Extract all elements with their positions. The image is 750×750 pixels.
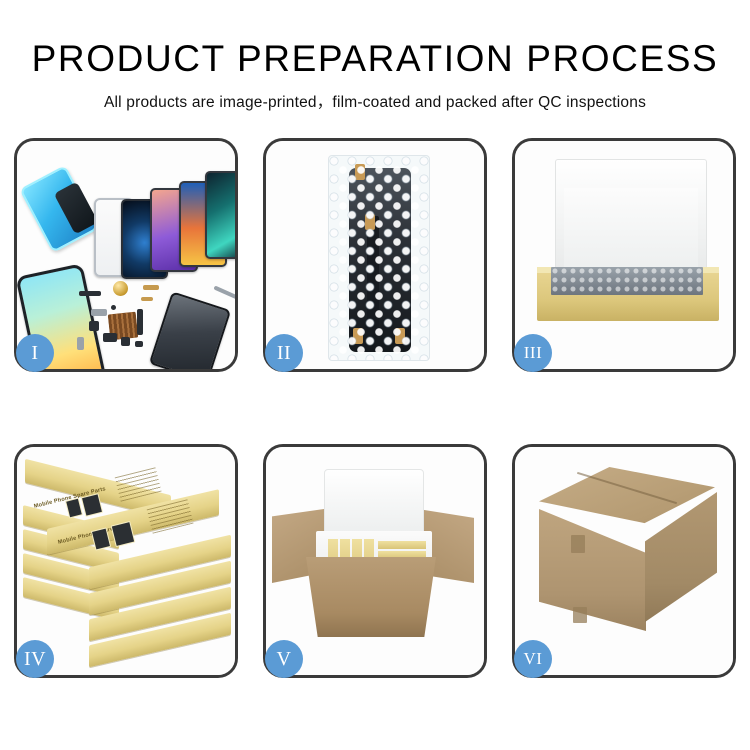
process-step-5[interactable]: V — [263, 444, 487, 678]
phone-parts-image — [17, 141, 235, 369]
spare-part — [121, 337, 130, 346]
process-step-2[interactable]: II — [263, 138, 487, 372]
carton-tape-upper — [571, 535, 585, 553]
carton-tape-lower — [573, 607, 587, 623]
spare-part — [91, 309, 107, 316]
foam-sheet — [555, 159, 707, 283]
spare-part — [141, 297, 153, 301]
spare-part — [137, 309, 143, 335]
carton-front-wall — [306, 557, 436, 637]
process-step-1[interactable]: I — [14, 138, 238, 372]
speaker-module — [113, 281, 128, 296]
bubble-wrap-bag — [328, 155, 430, 361]
phone-display-d — [205, 171, 235, 259]
carton-left-face — [539, 509, 646, 631]
step-badge-6: VI — [514, 640, 552, 678]
foam-box-lid — [324, 469, 424, 537]
sealed-carton-image — [515, 447, 733, 675]
box-window — [65, 498, 83, 519]
step-badge-5: V — [265, 640, 303, 678]
step-badge-1: I — [16, 334, 54, 372]
spare-part — [89, 321, 99, 331]
page-header: PRODUCT PREPARATION PROCESS All products… — [0, 0, 750, 112]
bubble-texture — [329, 156, 429, 360]
spare-part — [77, 337, 84, 350]
bubble-wrapped-contents — [551, 267, 703, 295]
page-subtitle: All products are image-printed，film-coat… — [0, 90, 750, 112]
tweezers — [213, 285, 235, 300]
process-panel-grid: I II III — [14, 138, 736, 678]
process-step-3[interactable]: III — [512, 138, 736, 372]
step-badge-2: II — [265, 334, 303, 372]
process-step-6[interactable]: VI — [512, 444, 736, 678]
process-step-4[interactable]: Mobile Phone Spare Parts Mobile Phone Sp… — [14, 444, 238, 678]
spare-part — [79, 291, 101, 296]
bubble-wrap-image — [266, 141, 484, 369]
spare-part — [103, 333, 117, 342]
spare-part — [111, 305, 116, 310]
spare-part — [143, 285, 159, 290]
open-yellow-box-image — [515, 141, 733, 369]
step-badge-3: III — [514, 334, 552, 372]
yellow-box-item — [378, 541, 426, 549]
step-badge-4: IV — [16, 640, 54, 678]
carton-with-foam-image — [266, 447, 484, 675]
stacked-boxes-image: Mobile Phone Spare Parts Mobile Phone Sp… — [17, 447, 235, 675]
page-title: PRODUCT PREPARATION PROCESS — [0, 40, 750, 77]
spare-part — [135, 341, 143, 347]
phone-back-housing — [149, 291, 231, 369]
